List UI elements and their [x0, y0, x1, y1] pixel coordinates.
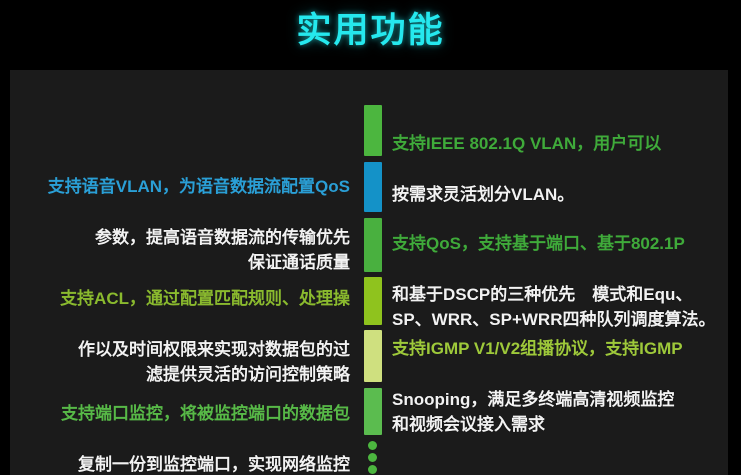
right-feature-3-lead: 支持IGMP V1/V2组播协议，支持IGMP [392, 336, 728, 362]
right-feature-3-body: Snooping，满足多终端高清视频监控 和视频会议接入需求 [392, 387, 728, 438]
left-feature-3-lead: 支持端口监控，将被监控端口的数据包 [10, 401, 350, 427]
right-feature-1-lead: 支持IEEE 802.1Q VLAN，用户可以 [392, 131, 728, 157]
strip-dot-1 [368, 441, 377, 450]
color-strip [364, 70, 382, 475]
strip-dot-3 [368, 465, 377, 474]
strip-segment-6 [364, 388, 382, 435]
strip-segment-4 [364, 277, 382, 325]
strip-dot-2 [368, 453, 377, 462]
right-feature-2-lead: 支持QoS，支持基于端口、基于802.1P [392, 231, 728, 257]
right-feature-1-body: 按需求灵活划分VLAN。 [392, 182, 728, 208]
right-feature-block-3: 支持IGMP V1/V2组播协议，支持IGMP Snooping，满足多终端高清… [392, 310, 728, 463]
strip-segment-3 [364, 218, 382, 272]
left-feature-1-lead: 支持语音VLAN，为语音数据流配置QoS [10, 174, 350, 200]
strip-segment-1 [364, 105, 382, 156]
left-feature-block-3: 支持端口监控，将被监控端口的数据包 复制一份到监控端口，实现网络监控 [10, 375, 350, 475]
left-feature-2-lead: 支持ACL，通过配置匹配规则、处理操 [10, 286, 350, 312]
slide-root: 实用功能 支持语音VLAN，为语音数据流配置QoS 参数，提高语音数据流的传输优… [0, 0, 741, 475]
strip-segment-5 [364, 330, 382, 382]
title-band: 实用功能 [0, 0, 741, 70]
page-title: 实用功能 [0, 8, 741, 54]
strip-segment-2 [364, 162, 382, 212]
left-feature-3-body: 复制一份到监控端口，实现网络监控 [10, 452, 350, 475]
content-panel: 支持语音VLAN，为语音数据流配置QoS 参数，提高语音数据流的传输优先 保证通… [10, 70, 728, 475]
